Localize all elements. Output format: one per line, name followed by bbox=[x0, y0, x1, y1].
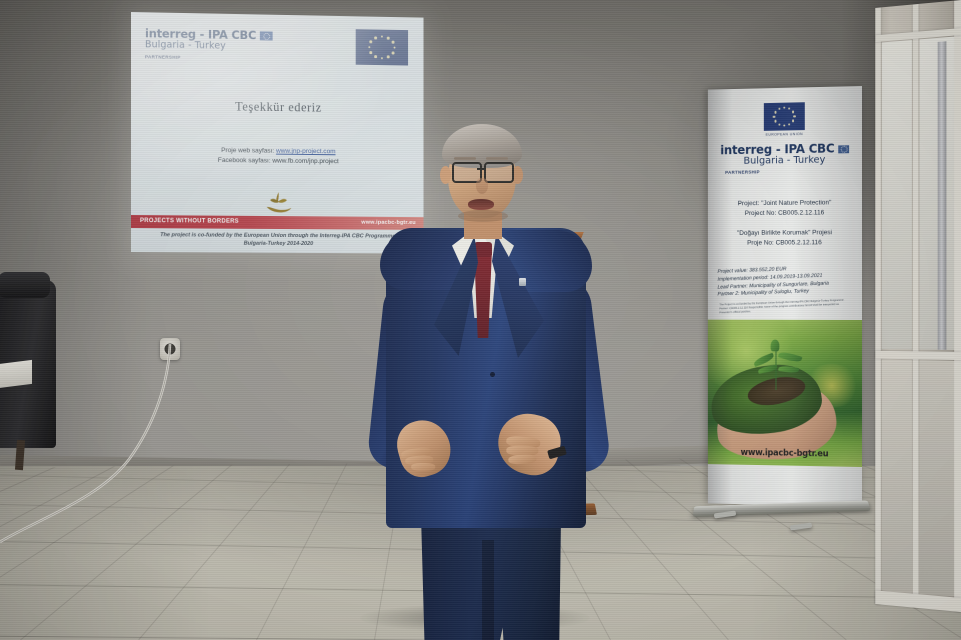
lapel-pin-icon bbox=[519, 278, 526, 286]
nose bbox=[476, 178, 488, 194]
banner-info-block: Project value: 383.552,20 EUR Implementa… bbox=[717, 264, 854, 300]
banner-interreg-logo: interreg - IPA CBC Bulgaria - Turkey bbox=[708, 141, 862, 167]
power-cable bbox=[0, 330, 330, 570]
banner-eu-flag-icon bbox=[764, 102, 805, 131]
left-ear bbox=[440, 166, 451, 184]
eu-flag-icon bbox=[356, 29, 408, 65]
photo-stem bbox=[775, 352, 777, 390]
slide-tagline: PROJECTS WITHOUT BORDERS bbox=[140, 218, 239, 225]
banner-nature-photo bbox=[708, 320, 862, 467]
presenter bbox=[372, 120, 622, 640]
left-eyebrow bbox=[454, 157, 476, 160]
right-eyebrow bbox=[486, 157, 508, 160]
eyeglasses-right-lens bbox=[484, 162, 514, 183]
slide-web-url[interactable]: www.jnp-project.com bbox=[276, 148, 336, 156]
chin-shadow bbox=[458, 210, 508, 222]
interreg-mark-icon bbox=[260, 31, 273, 40]
hand-holding-sprout-icon bbox=[264, 189, 293, 215]
presentation-room-photo: interreg - IPA CBC Bulgaria - Turkey PAR… bbox=[0, 0, 961, 640]
slide-interreg-logo: interreg - IPA CBC Bulgaria - Turkey PAR… bbox=[145, 26, 273, 61]
banner-eu-caption: EUROPEAN UNION bbox=[708, 131, 862, 138]
rollup-banner: EUROPEAN UNION interreg - IPA CBC Bulgar… bbox=[708, 86, 862, 507]
eu-flag-stars bbox=[356, 29, 408, 65]
jacket-button bbox=[490, 372, 495, 377]
slide-facebook-url[interactable]: www.fb.com/jnp.project bbox=[272, 158, 338, 166]
banner-eu-flag-stars bbox=[764, 102, 805, 131]
slide-thank-you-text: Teşekkür ederiz bbox=[131, 98, 424, 117]
left-equipment-top bbox=[0, 272, 50, 298]
eyeglasses-bridge bbox=[477, 168, 486, 170]
banner-project-en: Project: "Joint Nature Protection" Proje… bbox=[708, 198, 862, 218]
banner-project-tr-line-2: Proje No: CB005.2.12.116 bbox=[708, 238, 862, 248]
slide-partnership-label: PARTNERSHIP bbox=[145, 54, 273, 61]
banner-partnership-label: PARTNERSHIP bbox=[725, 169, 760, 174]
banner-project-en-line-2: Project No: CB005.2.12.116 bbox=[708, 208, 862, 219]
banner-disclaimer: The Project is co-funded by the European… bbox=[719, 298, 852, 314]
mouth bbox=[468, 199, 494, 210]
pvc-door[interactable] bbox=[875, 0, 961, 612]
banner-project-tr: "Doğayı Birlikte Korumak" Projesi Proje … bbox=[708, 228, 862, 248]
banner-interreg-mark-icon bbox=[838, 145, 849, 153]
left-shoulder bbox=[380, 232, 466, 290]
